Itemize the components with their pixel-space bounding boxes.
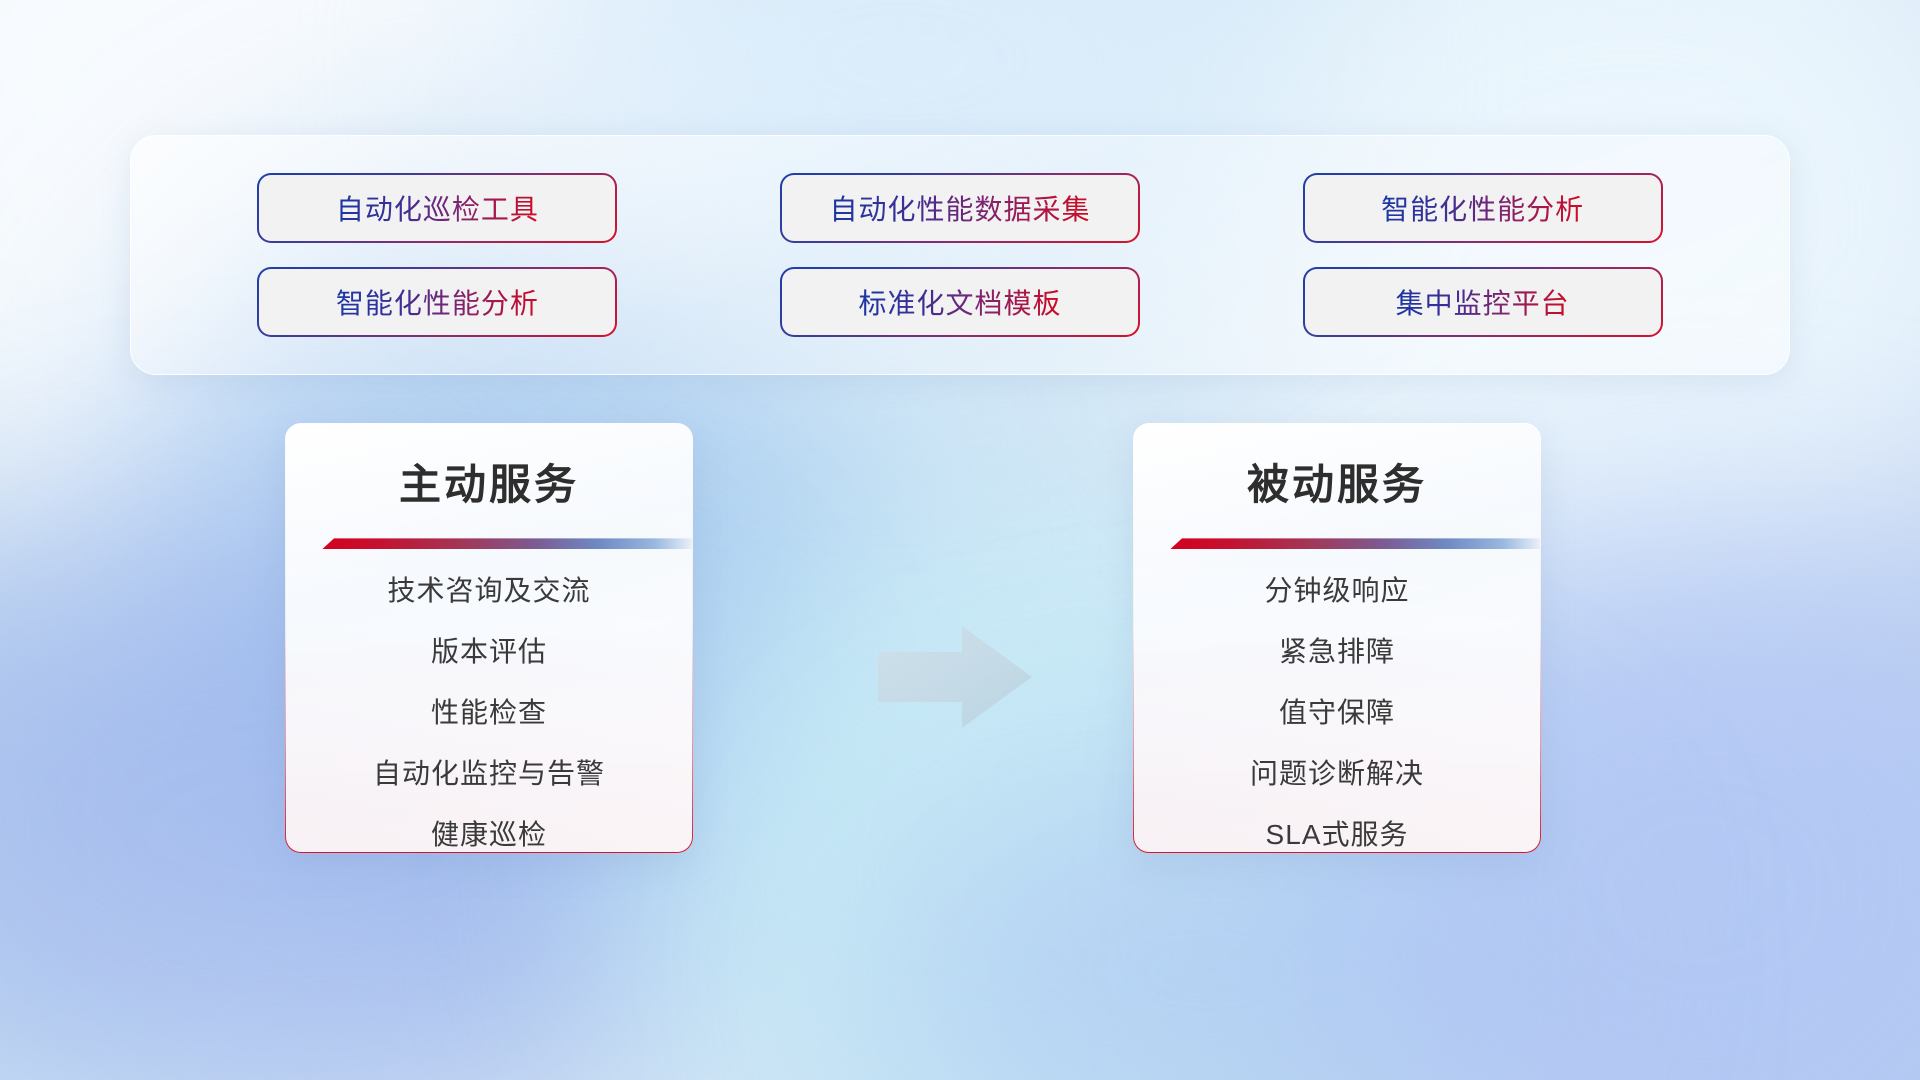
list-item: 紧急排障 — [1279, 634, 1395, 669]
card-divider-wrap — [1134, 532, 1540, 551]
list-item: 健康巡检 — [431, 817, 547, 852]
service-card-title: 主动服务 — [399, 460, 579, 510]
capability-pill-standardized-document-template[interactable]: 标准化文档模板 — [780, 267, 1140, 337]
gradient-divider — [322, 538, 692, 549]
right-arrow-icon — [876, 622, 1036, 732]
capabilities-panel: 自动化巡检工具 自动化性能数据采集 智能化性能分析 智能化性能分析 标准化文档模… — [130, 135, 1790, 375]
service-card-list: 分钟级响应 紧急排障 值守保障 问题诊断解决 SLA式服务 — [1134, 573, 1540, 852]
capability-pill-label: 标准化文档模板 — [858, 282, 1061, 322]
list-item: 版本评估 — [431, 634, 547, 669]
capability-pill-label: 集中监控平台 — [1396, 282, 1570, 322]
card-divider-wrap — [286, 532, 692, 551]
service-card-reactive: 被动服务 分钟级响应 紧急排障 值守保障 问题诊断解决 SLA式服务 — [1133, 423, 1541, 853]
service-card-title: 被动服务 — [1247, 460, 1427, 510]
list-item: SLA式服务 — [1266, 817, 1409, 852]
list-item: 自动化监控与告警 — [373, 756, 605, 791]
service-card-proactive: 主动服务 技术咨询及交流 版本评估 性能检查 自动化监控与告警 健康巡检 — [285, 423, 693, 853]
list-item: 值守保障 — [1279, 695, 1395, 730]
capability-pill-label: 自动化巡检工具 — [336, 188, 539, 228]
capability-pill-intelligent-performance-analysis-2[interactable]: 智能化性能分析 — [257, 267, 617, 337]
capability-pill-label: 自动化性能数据采集 — [829, 188, 1090, 228]
list-item: 技术咨询及交流 — [387, 573, 590, 608]
capability-pill-centralized-monitoring-platform[interactable]: 集中监控平台 — [1303, 267, 1663, 337]
capability-pill-label: 智能化性能分析 — [1381, 188, 1584, 228]
capability-pill-automated-performance-data-collection[interactable]: 自动化性能数据采集 — [780, 173, 1140, 243]
capability-pill-intelligent-performance-analysis[interactable]: 智能化性能分析 — [1303, 173, 1663, 243]
capabilities-row-1: 自动化巡检工具 自动化性能数据采集 智能化性能分析 — [131, 173, 1789, 243]
list-item: 性能检查 — [431, 695, 547, 730]
capability-pill-automated-inspection-tool[interactable]: 自动化巡检工具 — [257, 173, 617, 243]
capability-pill-label: 智能化性能分析 — [336, 282, 539, 322]
capabilities-row-2: 智能化性能分析 标准化文档模板 集中监控平台 — [131, 267, 1789, 337]
slide-canvas: 自动化巡检工具 自动化性能数据采集 智能化性能分析 智能化性能分析 标准化文档模… — [0, 0, 1920, 1080]
list-item: 问题诊断解决 — [1250, 756, 1424, 791]
gradient-divider — [1170, 538, 1540, 549]
service-card-list: 技术咨询及交流 版本评估 性能检查 自动化监控与告警 健康巡检 — [286, 573, 692, 852]
list-item: 分钟级响应 — [1264, 573, 1409, 608]
